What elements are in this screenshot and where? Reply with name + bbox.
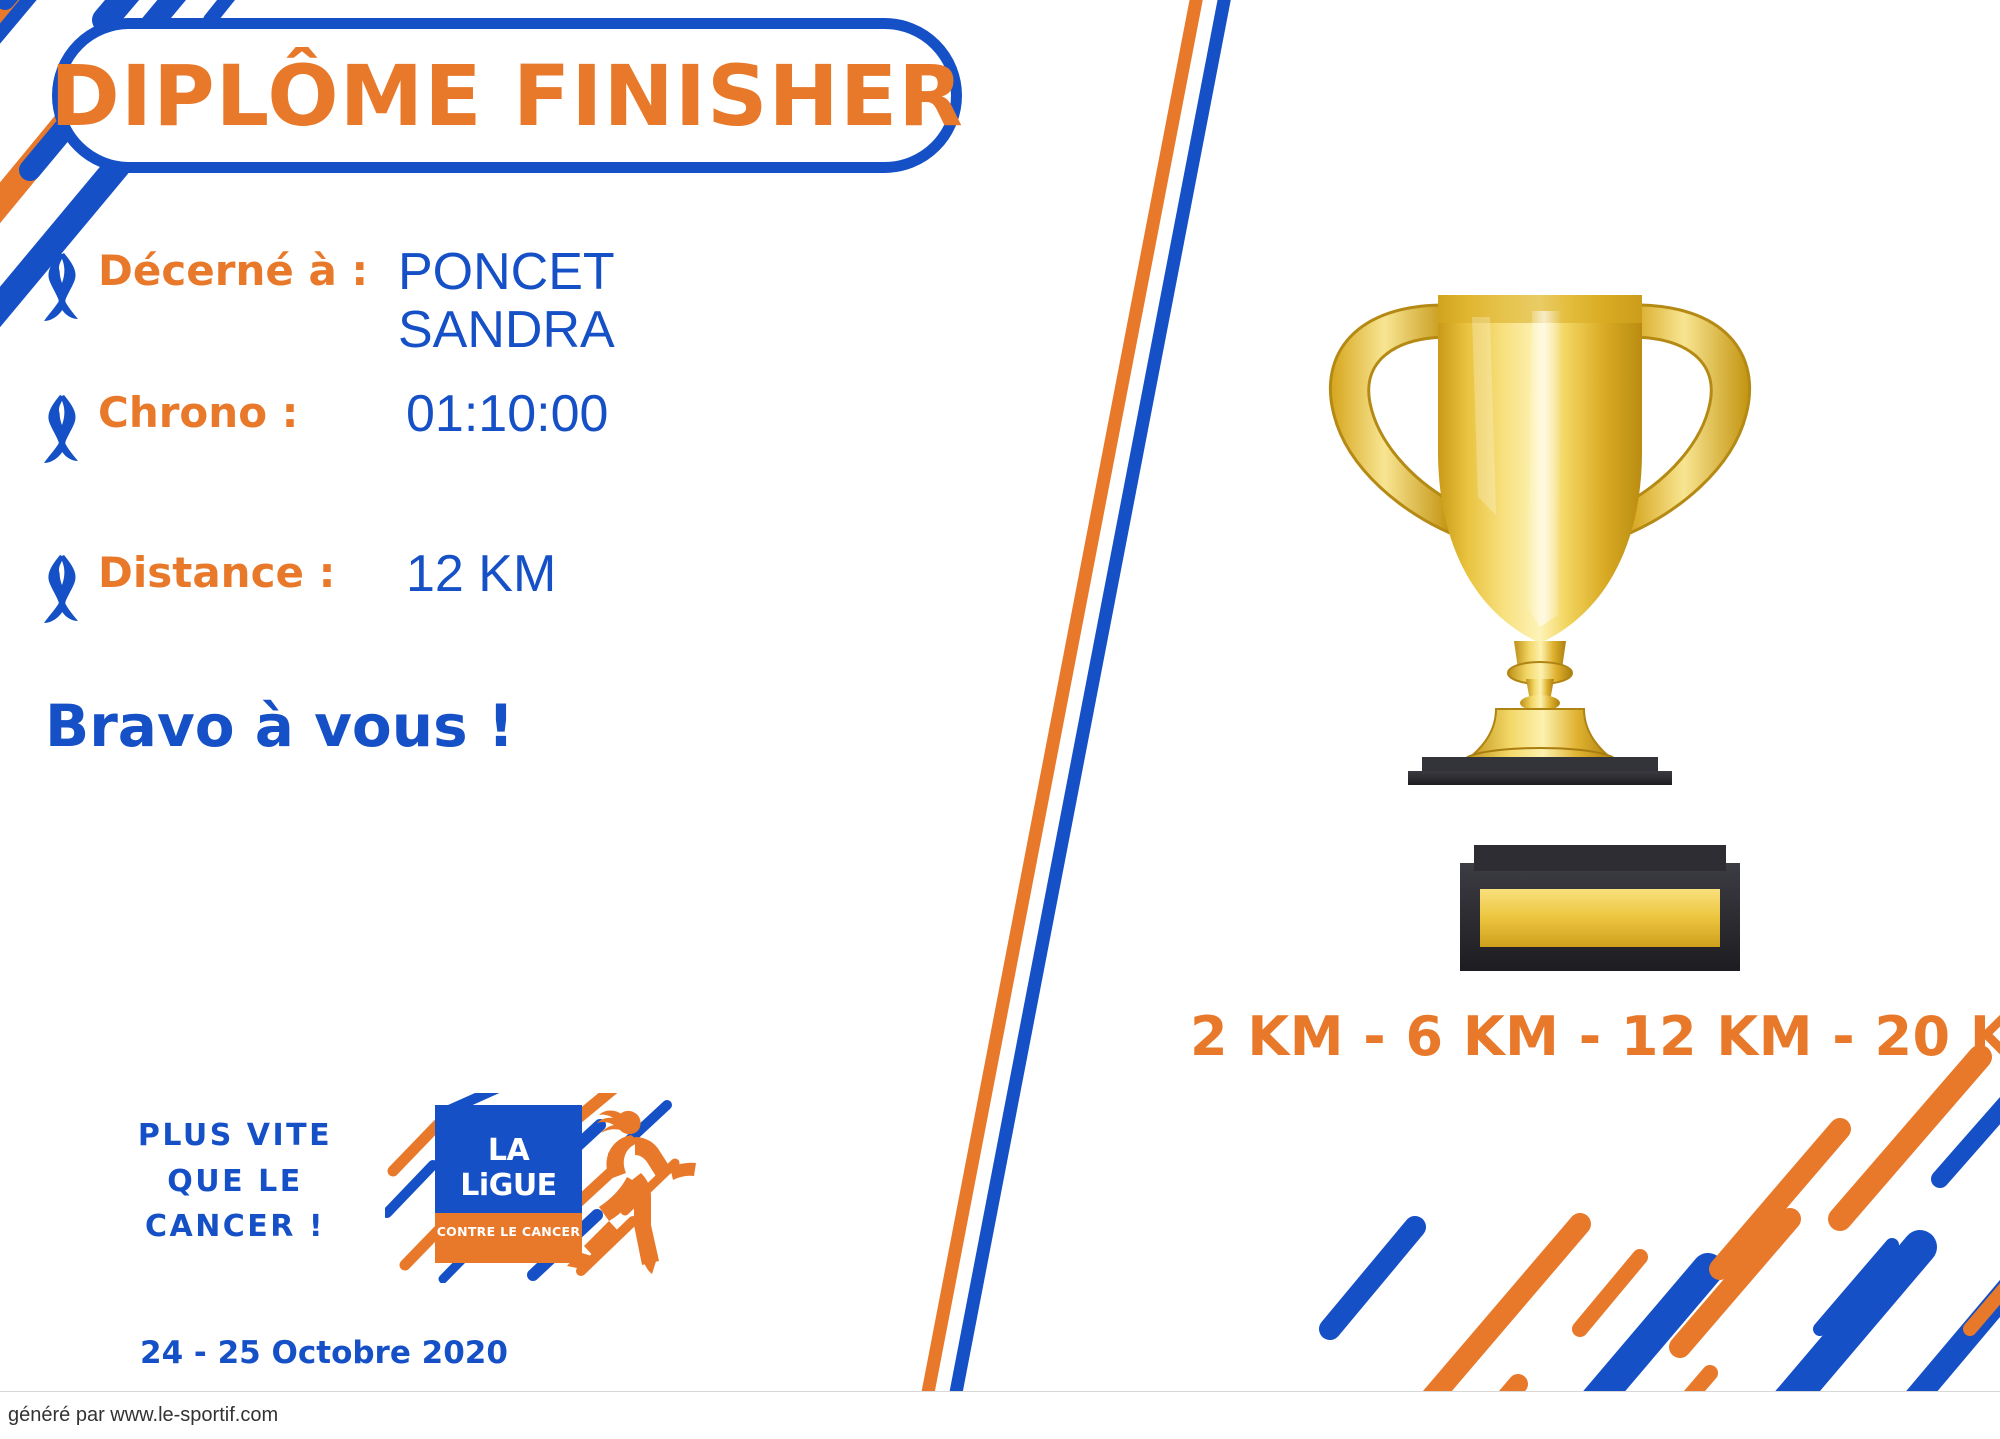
runner-icon bbox=[565, 1105, 705, 1275]
footer-generator-note: généré par www.le-sportif.com bbox=[8, 1404, 278, 1427]
diploma-title-box: DIPLÔME FINISHER bbox=[52, 18, 962, 173]
ribbon-icon bbox=[40, 545, 98, 627]
detail-value-distance: 12 KM bbox=[398, 545, 556, 603]
detail-value-chrono: 01:10:00 bbox=[398, 385, 608, 443]
detail-row-chrono: Chrono : 01:10:00 bbox=[40, 385, 760, 467]
footer-bar: généré par www.le-sportif.com bbox=[0, 1391, 2000, 1439]
detail-row-recipient: Décerné à : PONCET SANDRA bbox=[40, 243, 760, 359]
logo-wordmark: LA LiGUE bbox=[435, 1133, 582, 1203]
detail-label: Décerné à : bbox=[98, 243, 398, 294]
event-distances: 2 KM - 6 KM - 12 KM - 20 KM bbox=[1190, 1005, 2000, 1068]
trophy-base bbox=[1460, 845, 1740, 975]
trophy-base-top bbox=[1474, 845, 1726, 871]
campaign-slogan: PLUS VITE QUE LE CANCER ! bbox=[100, 1113, 370, 1250]
congratulations-text: Bravo à vous ! bbox=[45, 692, 514, 760]
ribbon-icon bbox=[40, 385, 98, 467]
logo-tagline: CONTRE LE CANCER bbox=[435, 1224, 582, 1239]
detail-label: Chrono : bbox=[98, 385, 398, 436]
ribbon-icon bbox=[40, 243, 98, 325]
detail-row-distance: Distance : 12 KM bbox=[40, 545, 760, 627]
award-details: Décerné à : PONCET SANDRA Chrono : 01:10… bbox=[40, 243, 760, 627]
event-date: 24 - 25 Octobre 2020 bbox=[140, 1335, 508, 1371]
detail-value-recipient: PONCET SANDRA bbox=[398, 243, 615, 359]
page-title: DIPLÔME FINISHER bbox=[50, 54, 964, 138]
decorative-stripes-bottom-right bbox=[1280, 1029, 2000, 1439]
trophy-nameplate bbox=[1480, 889, 1720, 947]
detail-label: Distance : bbox=[98, 545, 398, 596]
la-ligue-logo: LA LiGUE CONTRE LE CANCER bbox=[435, 1105, 582, 1263]
ligue-logo-block: PLUS VITE QUE LE CANCER ! bbox=[95, 1105, 715, 1285]
trophy-icon bbox=[1300, 265, 1780, 785]
finisher-diploma: DIPLÔME FINISHER Décerné à : PONCET SAND… bbox=[0, 0, 2000, 1439]
diagonal-divider bbox=[870, 0, 1290, 1439]
